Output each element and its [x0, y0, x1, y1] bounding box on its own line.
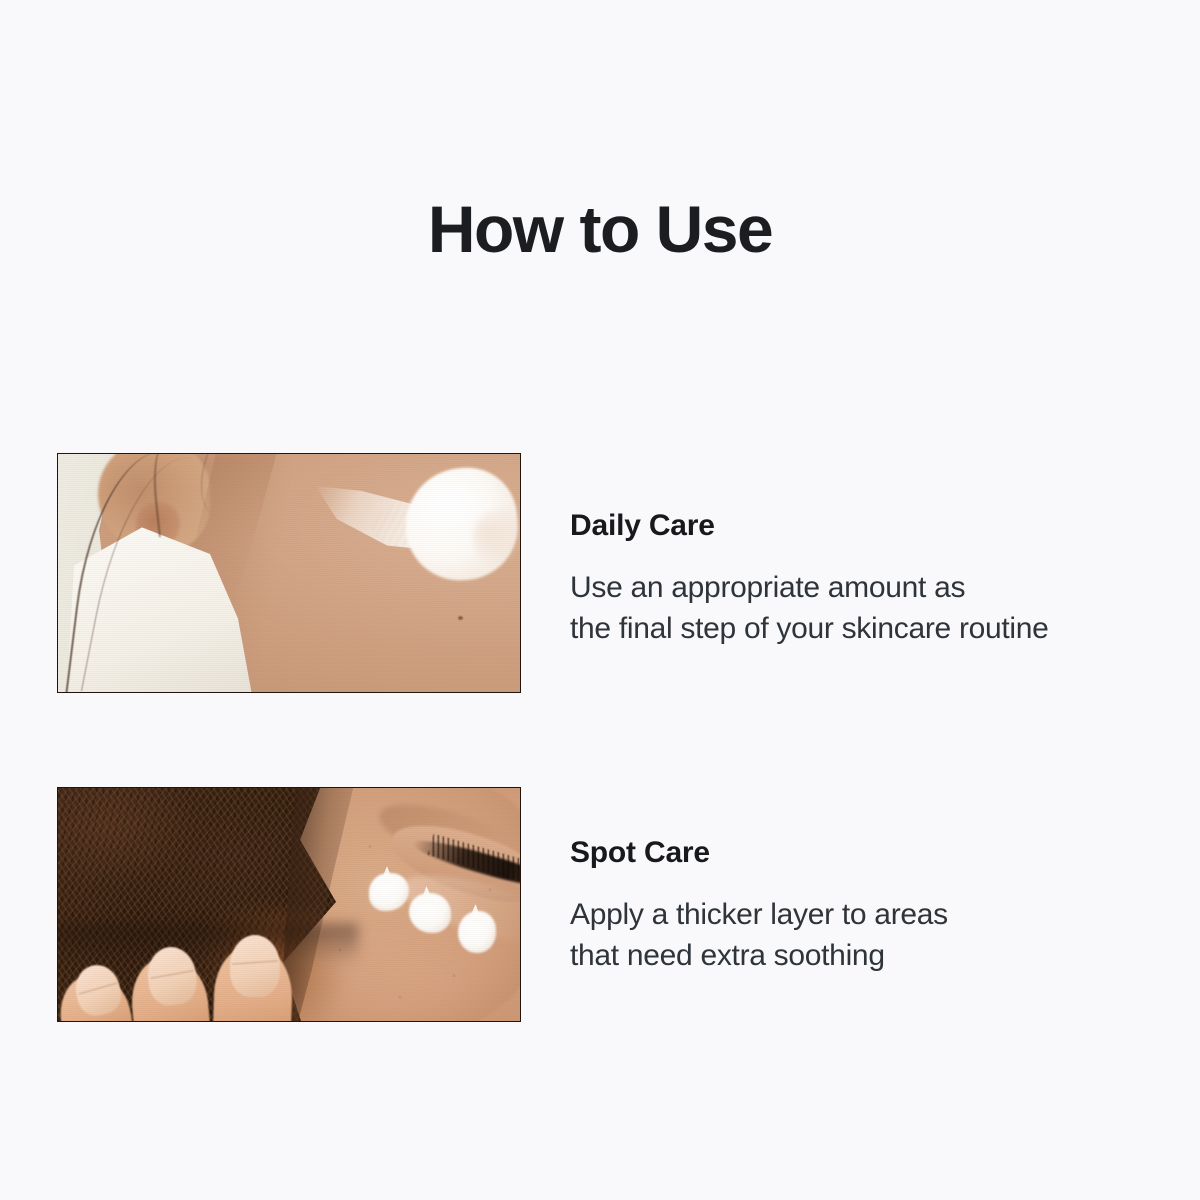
step-body: Apply a thicker layer to areas that need…	[570, 894, 1170, 977]
spot-care-text: Spot Care Apply a thicker layer to areas…	[570, 787, 1170, 977]
daily-care-text: Daily Care Use an appropriate amount as …	[570, 453, 1170, 650]
daily-care-photo-art	[58, 454, 520, 692]
how-to-use-infographic: { "page": { "title": "How to Use", "back…	[0, 0, 1200, 1200]
spot-care-photo-art	[58, 788, 520, 1021]
daily-care-photo	[57, 453, 521, 693]
photo-grain	[58, 788, 520, 1021]
step-heading: Spot Care	[570, 838, 1170, 868]
step-heading: Daily Care	[570, 511, 1170, 541]
page-title: How to Use	[0, 196, 1200, 262]
spot-care-photo	[57, 787, 521, 1022]
photo-grain	[58, 454, 520, 692]
step-body: Use an appropriate amount as the final s…	[570, 567, 1170, 650]
